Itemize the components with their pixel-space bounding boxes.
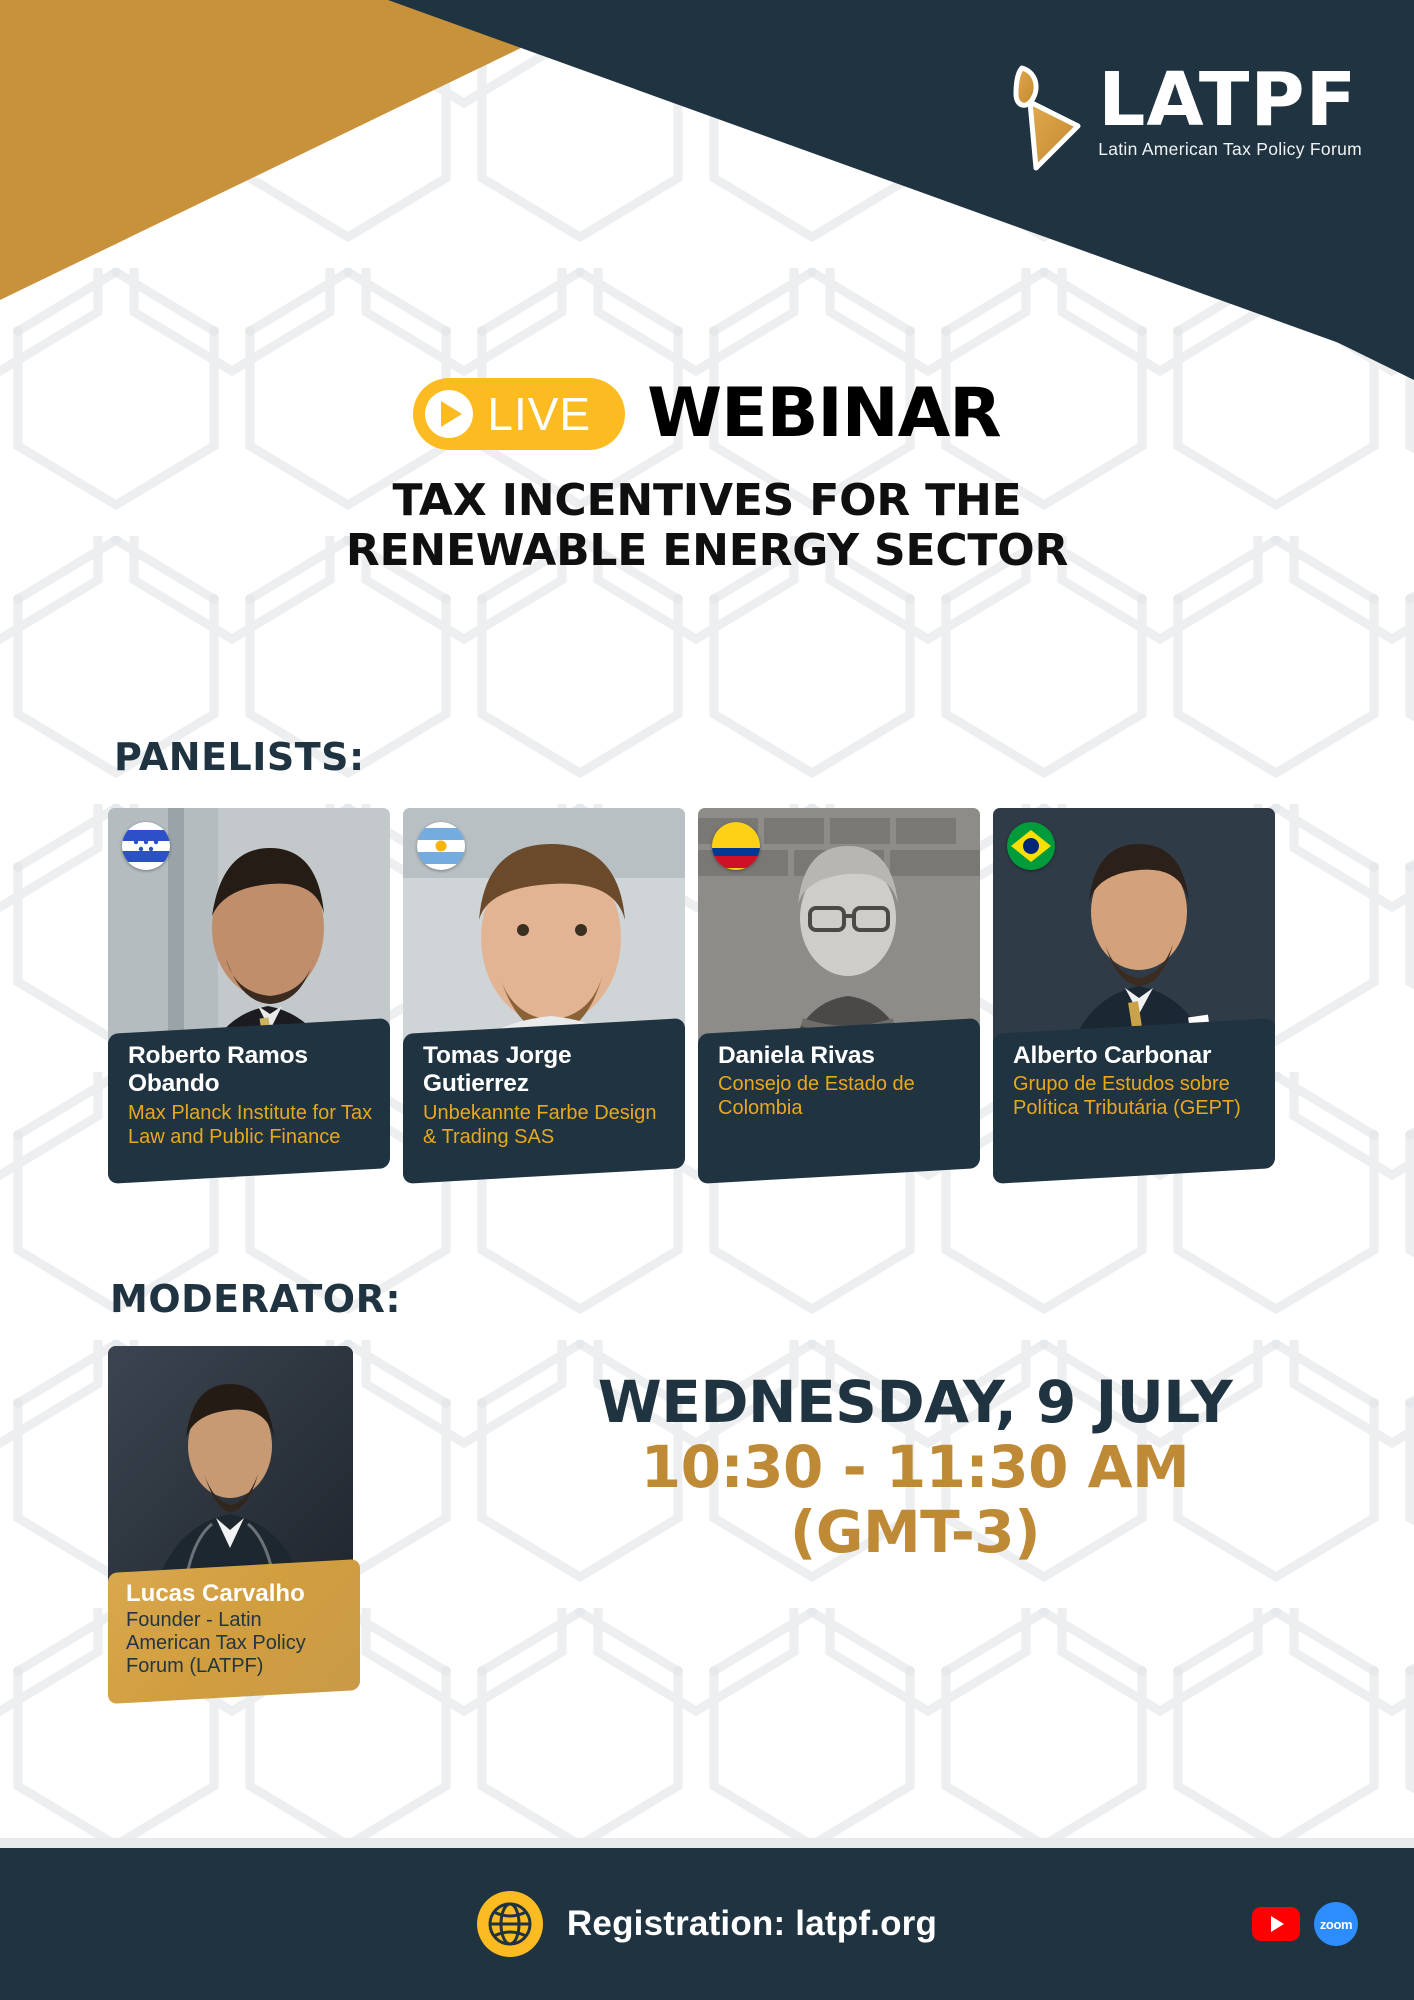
live-badge: LIVE <box>413 378 625 450</box>
live-webinar-row: LIVE WEBINAR <box>0 378 1414 450</box>
moderator-section-label: MODERATOR: <box>110 1277 401 1321</box>
panelist-name: Alberto Carbonar <box>1013 1042 1259 1070</box>
panelist-nameplate: Roberto Ramos Obando Max Planck Institut… <box>108 1018 390 1184</box>
live-label: LIVE <box>487 391 591 437</box>
honduras-flag-icon <box>122 822 170 870</box>
panelist-nameplate: Daniela Rivas Consejo de Estado de Colom… <box>698 1018 980 1184</box>
moderator-role: Founder - Latin American Tax Policy Foru… <box>126 1609 344 1679</box>
youtube-icon[interactable] <box>1252 1907 1300 1941</box>
globe-icon <box>477 1891 543 1957</box>
subtitle-line-1: TAX INCENTIVES FOR THE <box>0 476 1414 526</box>
moderator-nameplate: Lucas Carvalho Founder - Latin American … <box>108 1559 360 1704</box>
panelists-grid: Roberto Ramos Obando Max Planck Institut… <box>108 808 1275 1176</box>
panelist-card: Roberto Ramos Obando Max Planck Institut… <box>108 808 390 1176</box>
latpf-logo: LATPF Latin American Tax Policy Forum <box>1006 62 1362 174</box>
webinar-label: WEBINAR <box>647 380 1001 448</box>
webinar-poster: LATPF Latin American Tax Policy Forum LI… <box>0 0 1414 2000</box>
logo-name: LATPF <box>1098 66 1362 134</box>
moderator-name: Lucas Carvalho <box>126 1580 344 1608</box>
latpf-logo-mark-icon <box>1006 62 1084 174</box>
colombia-flag-icon <box>712 822 760 870</box>
event-day: WEDNESDAY, 9 JULY <box>520 1370 1310 1435</box>
panelist-nameplate: Tomas Jorge Gutierrez Unbekannte Farbe D… <box>403 1018 685 1184</box>
panelist-card: Daniela Rivas Consejo de Estado de Colom… <box>698 808 980 1176</box>
panelist-card: Alberto Carbonar Grupo de Estudos sobre … <box>993 808 1275 1176</box>
panelist-org: Unbekannte Farbe Design & Trading SAS <box>423 1101 669 1149</box>
moderator-photo-image <box>108 1346 353 1594</box>
zoom-icon[interactable]: zoom <box>1314 1902 1358 1946</box>
panelist-org: Max Planck Institute for Tax Law and Pub… <box>128 1101 374 1149</box>
panelist-nameplate: Alberto Carbonar Grupo de Estudos sobre … <box>993 1018 1275 1184</box>
panelist-card: Tomas Jorge Gutierrez Unbekannte Farbe D… <box>403 808 685 1176</box>
panelist-name: Daniela Rivas <box>718 1042 964 1070</box>
panelist-name: Tomas Jorge Gutierrez <box>423 1042 669 1099</box>
event-datetime: WEDNESDAY, 9 JULY 10:30 - 11:30 AM (GMT-… <box>520 1370 1310 1565</box>
webinar-subtitle: TAX INCENTIVES FOR THE RENEWABLE ENERGY … <box>0 476 1414 576</box>
title-block: LIVE WEBINAR TAX INCENTIVES FOR THE RENE… <box>0 378 1414 576</box>
footer-social-icons: zoom <box>1252 1902 1358 1946</box>
event-timezone: (GMT-3) <box>520 1500 1310 1565</box>
brazil-flag-icon <box>1007 822 1055 870</box>
panelists-section-label: PANELISTS: <box>114 735 365 779</box>
footer-divider <box>0 1838 1414 1848</box>
panelist-org: Grupo de Estudos sobre Política Tributár… <box>1013 1072 1259 1120</box>
registration-text[interactable]: Registration: latpf.org <box>567 1904 937 1944</box>
footer-bar: Registration: latpf.org zoom <box>0 1848 1414 2000</box>
argentina-flag-icon <box>417 822 465 870</box>
panelist-name: Roberto Ramos Obando <box>128 1042 374 1099</box>
play-icon <box>425 390 473 438</box>
moderator-card: Lucas Carvalho Founder - Latin American … <box>108 1346 360 1697</box>
moderator-photo-lucas <box>108 1346 353 1594</box>
subtitle-line-2: RENEWABLE ENERGY SECTOR <box>0 526 1414 576</box>
logo-tagline: Latin American Tax Policy Forum <box>1098 139 1362 160</box>
event-time: 10:30 - 11:30 AM <box>520 1435 1310 1500</box>
panelist-org: Consejo de Estado de Colombia <box>718 1072 964 1120</box>
registration-block: Registration: latpf.org <box>0 1891 1414 1957</box>
